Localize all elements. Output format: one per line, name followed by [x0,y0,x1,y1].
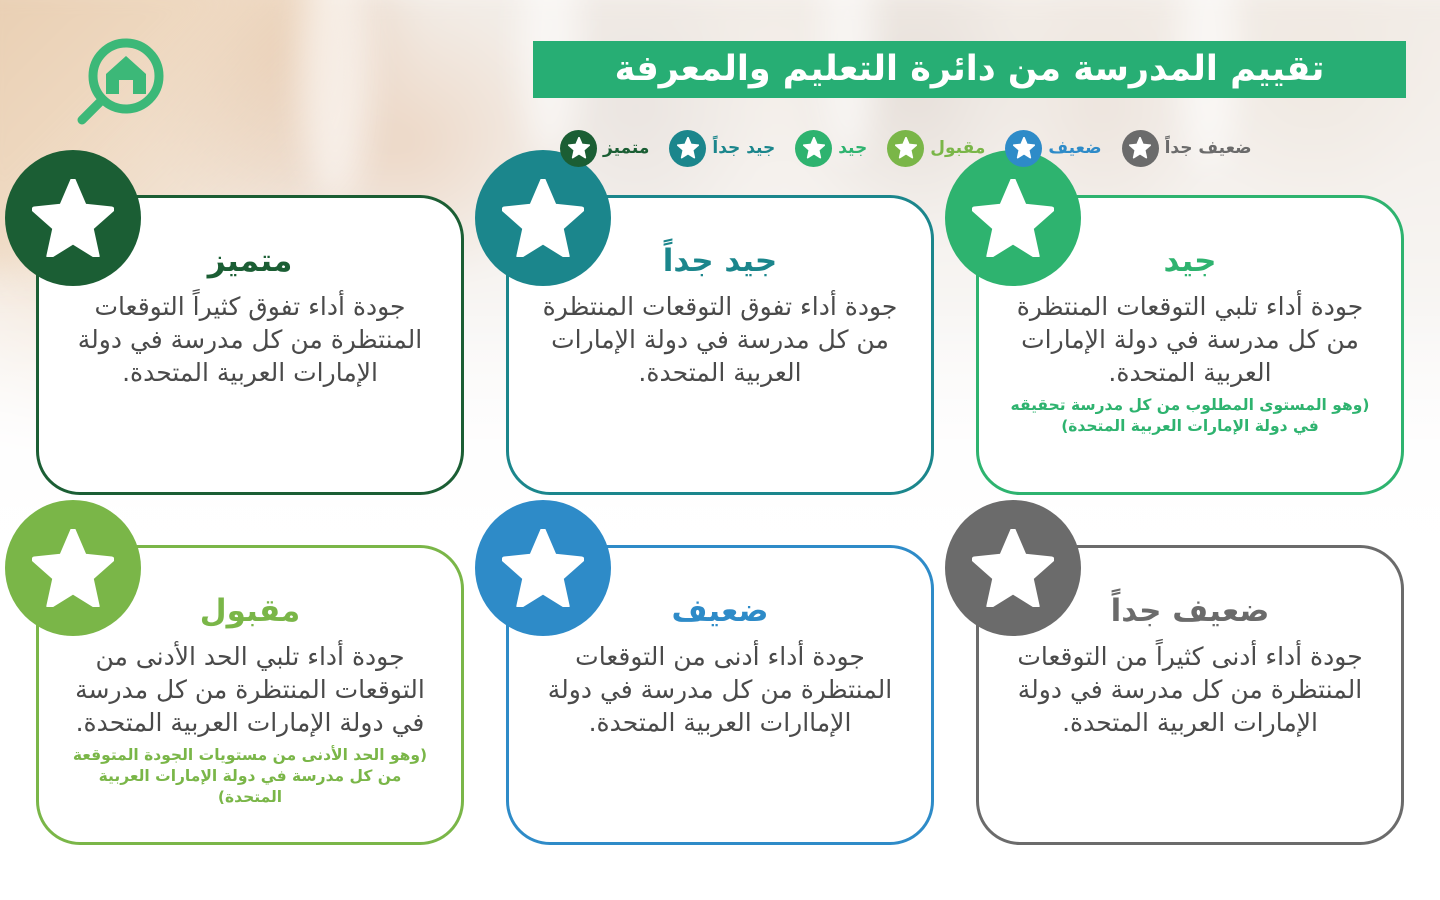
star-icon [5,150,141,286]
star-icon [887,130,924,167]
rating-card-note: (وهو المستوى المطلوب من كل مدرسة تحقيقه … [1009,395,1371,437]
rating-card-description: جودة أداء تلبي التوقعات المنتظرة من كل م… [1009,290,1371,389]
rating-cards-row-bottom: مقبولجودة أداء تلبي الحد الأدنى من التوق… [0,545,1440,845]
legend-item: ضعيف جداً [1122,130,1252,167]
legend-item: ضعيف [1005,130,1101,167]
legend-item-label: مقبول [930,140,985,157]
legend-item: جيد جداً [669,130,775,167]
rating-card-description: جودة أداء تفوق التوقعات المنتظرة من كل م… [539,290,901,389]
house-magnifier-logo-icon [62,34,172,138]
rating-card[interactable]: ضعيفجودة أداء أدنى من التوقعات المنتظرة … [506,545,934,845]
star-icon [560,130,597,167]
legend-item-label: جيد [838,140,867,157]
star-icon [475,500,611,636]
rating-card-note: (وهو الحد الأدنى من مستويات الجودة المتو… [69,745,431,808]
rating-card-description: جودة أداء تفوق كثيراً التوقعات المنتظرة … [69,290,431,389]
legend-item-label: متميز [603,140,649,157]
page-title-banner: تقييم المدرسة من دائرة التعليم والمعرفة [533,41,1406,98]
legend-item-label: جيد جداً [712,140,775,157]
star-icon [795,130,832,167]
rating-card[interactable]: متميزجودة أداء تفوق كثيراً التوقعات المن… [36,195,464,495]
legend-item-label: ضعيف [1048,140,1101,157]
rating-card[interactable]: ضعيف جداًجودة أداء أدنى كثيراً من التوقع… [976,545,1404,845]
rating-card[interactable]: جيد جداًجودة أداء تفوق التوقعات المنتظرة… [506,195,934,495]
star-icon [945,150,1081,286]
star-icon [945,500,1081,636]
rating-card-description: جودة أداء أدنى من التوقعات المنتظرة من ك… [539,640,901,739]
star-icon [1005,130,1042,167]
legend-item: متميز [560,130,649,167]
page-title: تقييم المدرسة من دائرة التعليم والمعرفة [615,52,1325,87]
rating-card[interactable]: جيدجودة أداء تلبي التوقعات المنتظرة من ك… [976,195,1404,495]
legend-item: مقبول [887,130,985,167]
rating-card[interactable]: مقبولجودة أداء تلبي الحد الأدنى من التوق… [36,545,464,845]
legend-item-label: ضعيف جداً [1165,140,1252,157]
rating-card-description: جودة أداء أدنى كثيراً من التوقعات المنتظ… [1009,640,1371,739]
star-icon [5,500,141,636]
rating-card-description: جودة أداء تلبي الحد الأدنى من التوقعات ا… [69,640,431,739]
star-icon [1122,130,1159,167]
rating-legend: متميزجيد جداًجيدمقبولضعيفضعيف جداً [560,126,1390,170]
star-icon [475,150,611,286]
star-icon [669,130,706,167]
legend-item: جيد [795,130,867,167]
rating-cards-row-top: متميزجودة أداء تفوق كثيراً التوقعات المن… [0,195,1440,495]
